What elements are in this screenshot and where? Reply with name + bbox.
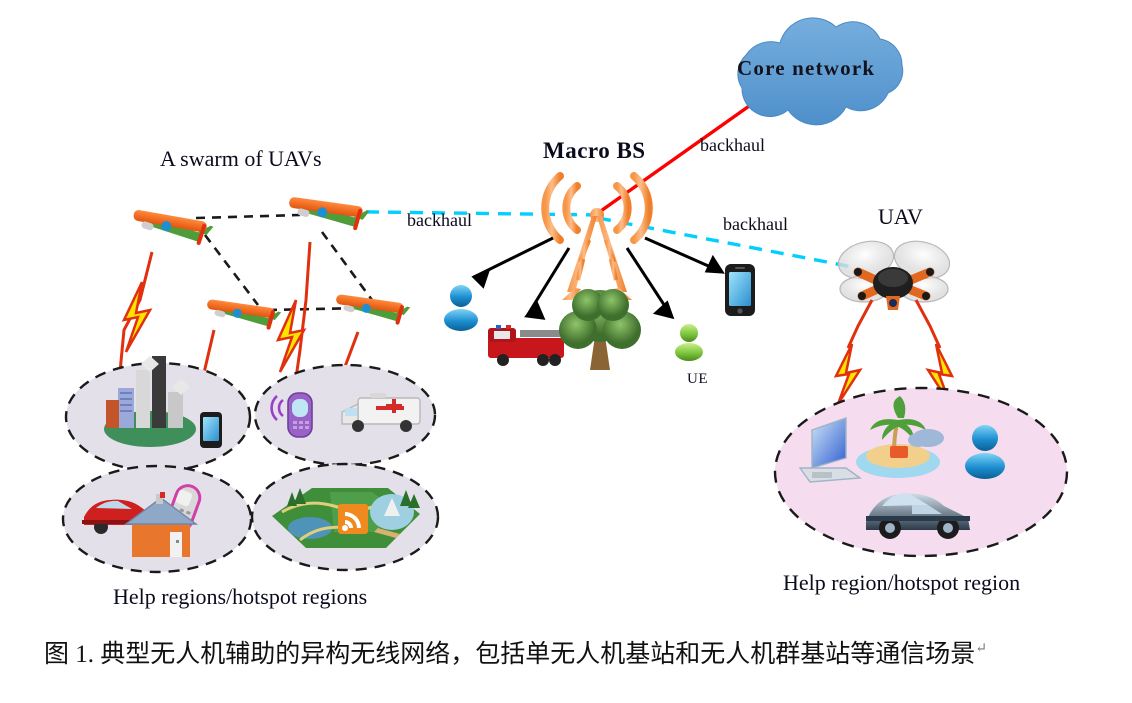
figure-caption: 图 1. 典型无人机辅助的异构无线网络，包括单无人机基站和无人机群基站等通信场景… xyxy=(44,634,987,670)
region-city xyxy=(66,356,250,471)
region-outdoor xyxy=(252,464,438,570)
backhaul-core-label: backhaul xyxy=(700,136,765,154)
uav-label: UAV xyxy=(878,206,923,228)
figure-caption-text: 图 1. 典型无人机辅助的异构无线网络，包括单无人机基站和无人机群基站等通信场景 xyxy=(44,641,975,668)
caption-paragraph-mark: ↵ xyxy=(975,642,987,657)
region-right-hotspot xyxy=(775,388,1067,556)
smartphone-icon xyxy=(725,264,755,316)
backhaul-swarm-label: backhaul xyxy=(407,211,472,229)
uav-aircraft-1 xyxy=(130,199,214,248)
uav-aircraft-2 xyxy=(286,187,370,234)
macro-bs-tower xyxy=(545,176,649,300)
single-uav-drone xyxy=(834,236,953,310)
swarm-of-uavs-label: A swarm of UAVs xyxy=(160,148,322,170)
region-residential xyxy=(63,466,251,572)
uav-aircraft-4 xyxy=(333,285,411,328)
user-green-person-icon xyxy=(675,324,703,361)
uav-aircraft-3 xyxy=(204,290,282,333)
help-region-right-label: Help region/hotspot region xyxy=(783,572,1020,594)
user-blue-person-icon xyxy=(444,285,478,331)
tree-icon xyxy=(559,289,641,370)
uav-swarm-group xyxy=(130,187,411,333)
fire-truck-icon xyxy=(488,325,564,366)
backhaul-uav-label: backhaul xyxy=(723,215,788,233)
ue-label: UE xyxy=(687,372,708,387)
region-emergency xyxy=(255,365,435,465)
help-regions-left-label: Help regions/hotspot regions xyxy=(113,586,367,608)
core-network-label: Core network xyxy=(737,58,875,79)
macro-bs-label: Macro BS xyxy=(543,139,646,162)
